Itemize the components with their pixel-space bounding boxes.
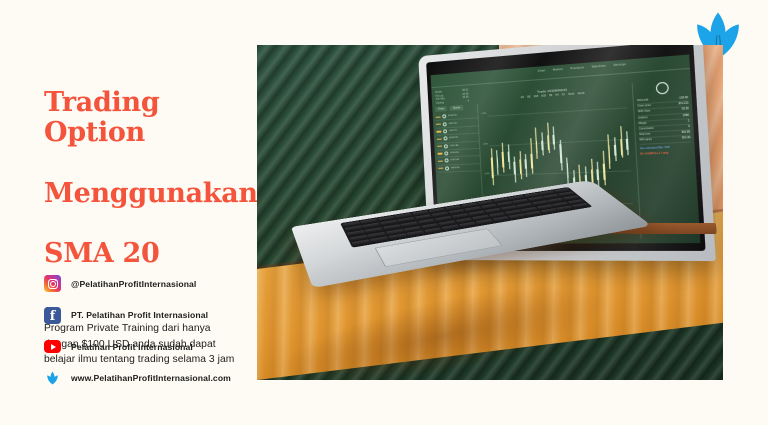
timeframe-month[interactable]: Month bbox=[578, 92, 585, 95]
estimated-var-link[interactable]: See estimated Mar. VAR bbox=[640, 144, 691, 149]
symbol-dot-icon bbox=[445, 159, 449, 163]
menu-item-positions[interactable]: Positions bbox=[570, 66, 584, 70]
instagram-handle: @PelatihanProfitInternasional bbox=[71, 279, 196, 289]
website-url: www.PelatihanProfitInternasional.com bbox=[71, 373, 231, 383]
social-row-youtube[interactable]: Pelatihan Profit Internasional bbox=[44, 335, 259, 358]
watchlist-items: EURUSDGBPUSDUSDJPYAUDUSDUSDCADNZDUSDUSDC… bbox=[436, 111, 481, 173]
timeframe-h4[interactable]: H4 bbox=[555, 94, 558, 96]
y-axis-tick: 0.0% bbox=[485, 173, 490, 175]
symbol-dot-icon bbox=[445, 166, 449, 170]
margin-error-text: Err AvbDCa+1 / mrg bbox=[640, 150, 691, 155]
symbol-dot-icon bbox=[443, 137, 447, 141]
keyboard-key[interactable] bbox=[476, 219, 495, 225]
trend-bar bbox=[436, 131, 441, 133]
order-stat-value: 901.00 bbox=[682, 136, 691, 141]
headline-line-3: SMA 20 bbox=[44, 239, 254, 269]
order-stat-rows: Will profit-100.00Order price101.213SMA … bbox=[637, 96, 691, 145]
facebook-icon: f bbox=[44, 307, 61, 324]
trend-bar bbox=[436, 123, 441, 125]
trend-bar bbox=[437, 138, 442, 140]
gauge-icon bbox=[655, 82, 668, 95]
watchlist-symbol: USDCAD bbox=[450, 144, 459, 146]
order-stat-label: Will profit bbox=[637, 98, 648, 103]
trend-bar bbox=[438, 160, 443, 161]
tab-stocks[interactable]: Stocks bbox=[450, 105, 463, 111]
timeframe-m5[interactable]: M5 bbox=[527, 96, 530, 98]
keyboard-row bbox=[347, 195, 581, 236]
watchlist-row[interactable]: XAUUSD bbox=[438, 164, 480, 173]
tab-forex[interactable]: Forex bbox=[435, 106, 447, 112]
account-stats: Equity48.02 Flo Lvg24.45 Avb Mrg33.90 Cl… bbox=[435, 88, 469, 105]
timeframe-h1[interactable]: H1 bbox=[549, 94, 552, 96]
watchlist-symbol: GBPUSD bbox=[448, 122, 457, 125]
stat-label: Closing bbox=[436, 101, 444, 105]
order-stat-row: Will equity901.00 bbox=[639, 136, 690, 144]
order-stat-label: Commission bbox=[639, 127, 654, 132]
order-stat-value: -100.00 bbox=[678, 96, 688, 101]
trend-bar bbox=[438, 168, 443, 169]
keyboard-key[interactable] bbox=[525, 211, 543, 217]
y-axis-tick: 1.0% bbox=[481, 113, 486, 115]
watchlist-symbol: EURUSD bbox=[448, 115, 457, 118]
headline-line-1: Trading Option bbox=[44, 87, 159, 148]
watchlist-symbol: NZDUSD bbox=[450, 152, 459, 154]
order-stat-label: Will equity bbox=[639, 138, 652, 143]
watchlist-symbol: USDJPY bbox=[449, 130, 457, 132]
laptop-device: Chart Market Positions Watchlist Setting… bbox=[287, 51, 707, 371]
hero-photo: Chart Market Positions Watchlist Setting… bbox=[257, 45, 723, 380]
trend-bar bbox=[436, 116, 441, 118]
keyboard-key[interactable] bbox=[556, 206, 574, 212]
page-title: Trading Option Menggunakan SMA 20 bbox=[44, 58, 254, 300]
timeframe-m1[interactable]: M1 bbox=[521, 96, 524, 98]
trend-bar bbox=[437, 146, 442, 148]
keyboard-key[interactable] bbox=[492, 216, 511, 222]
menu-item-settings[interactable]: Settings bbox=[613, 63, 626, 67]
symbol-dot-icon bbox=[444, 151, 448, 155]
menu-item-chart[interactable]: Chart bbox=[538, 69, 546, 73]
symbol-dot-icon bbox=[442, 114, 446, 118]
youtube-channel-name: Pelatihan Profit Internasional bbox=[71, 342, 193, 352]
timeframe-week[interactable]: Week bbox=[568, 93, 574, 96]
menu-item-market[interactable]: Market bbox=[553, 68, 563, 72]
timeframe-m15[interactable]: M15 bbox=[534, 95, 539, 97]
order-stat-value: 2 bbox=[688, 119, 690, 124]
keyboard-key[interactable] bbox=[541, 208, 559, 214]
order-stat-label: Margin bbox=[638, 121, 647, 126]
order-stat-value: 903.89 bbox=[681, 131, 690, 136]
timeframe-d1[interactable]: D1 bbox=[562, 94, 565, 96]
watchlist-symbol: XAUUSD bbox=[451, 167, 460, 169]
social-links: @PelatihanProfitInternasional f PT. Pela… bbox=[44, 272, 259, 398]
headline-line-2: Menggunakan bbox=[44, 178, 258, 209]
facebook-page-name: PT. Pelatihan Profit Internasional bbox=[71, 310, 208, 320]
symbol-dot-icon bbox=[443, 129, 447, 133]
order-stat-value: 101.213 bbox=[678, 102, 688, 107]
stat-value: 4 bbox=[467, 99, 469, 103]
keyboard-key[interactable] bbox=[509, 213, 527, 219]
symbol-dot-icon bbox=[444, 144, 448, 148]
watchlist-symbol: USDCHF bbox=[450, 159, 459, 161]
lotus-icon bbox=[44, 370, 61, 387]
timeframe-m30[interactable]: M30 bbox=[541, 95, 546, 97]
social-row-instagram[interactable]: @PelatihanProfitInternasional bbox=[44, 272, 259, 295]
symbol-dot-icon bbox=[443, 122, 447, 126]
dashboard-menu: Chart Market Positions Watchlist Setting… bbox=[538, 63, 627, 73]
social-row-website[interactable]: www.PelatihanProfitInternasional.com bbox=[44, 367, 259, 390]
keyboard-key[interactable] bbox=[572, 203, 590, 209]
order-stat-label: Order price bbox=[637, 104, 651, 109]
instagram-icon bbox=[44, 275, 61, 292]
trend-bar bbox=[438, 153, 443, 155]
watchlist-symbol: AUDUSD bbox=[449, 137, 458, 139]
order-stat-value: 93.36 bbox=[682, 107, 689, 112]
order-stat-label: Uniform bbox=[638, 116, 648, 121]
menu-item-watchlist[interactable]: Watchlist bbox=[592, 64, 606, 68]
order-stat-value: 1860 bbox=[683, 113, 690, 118]
order-stat-label: Stop loss bbox=[639, 133, 651, 138]
order-stat-label: SMA Slow bbox=[638, 110, 651, 115]
youtube-icon bbox=[44, 340, 61, 353]
y-axis-tick: 0.5% bbox=[483, 143, 488, 145]
order-info-panel: Will profit-100.00Order price101.213SMA … bbox=[632, 79, 697, 239]
poster-canvas: Trading Option Menggunakan SMA 20 Progra… bbox=[0, 0, 768, 425]
order-stat-value: 0 bbox=[688, 125, 690, 130]
social-row-facebook[interactable]: f PT. Pelatihan Profit Internasional bbox=[44, 304, 259, 327]
